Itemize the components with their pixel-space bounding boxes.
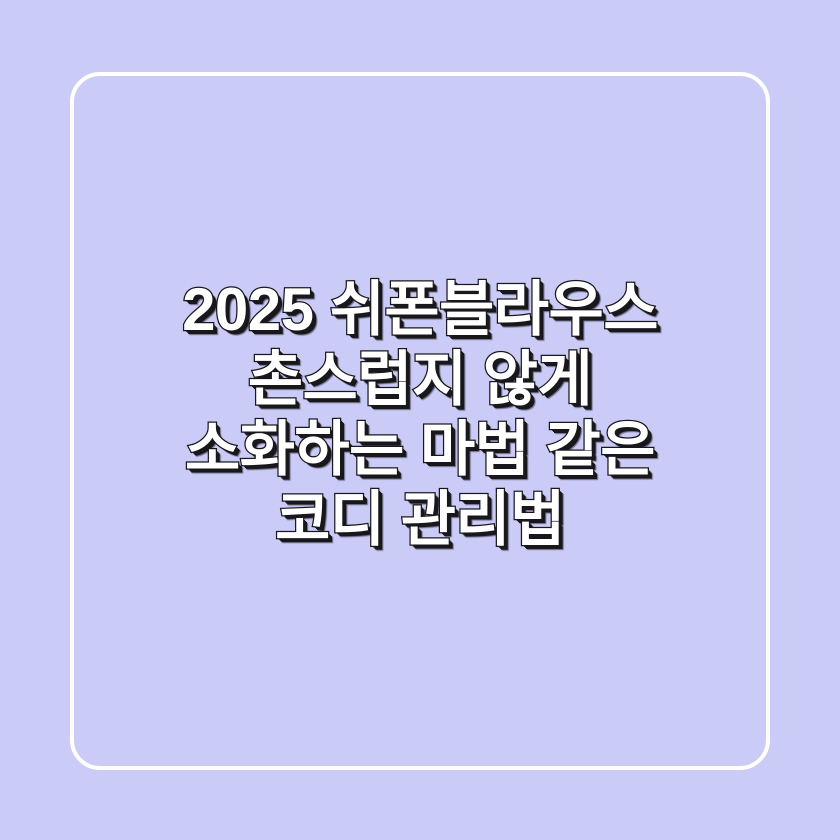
thumbnail-canvas: 2025 쉬폰블라우스 촌스럽지 않게 소화하는 마법 같은 코디 관리법 [0,0,840,840]
headline-text-block: 2025 쉬폰블라우스 촌스럽지 않게 소화하는 마법 같은 코디 관리법 [70,275,770,555]
headline-line-1: 2025 쉬폰블라우스 [70,275,770,345]
headline-line-3: 소화하는 마법 같은 [70,415,770,485]
headline-line-4: 코디 관리법 [70,485,770,555]
headline-line-2: 촌스럽지 않게 [70,345,770,415]
